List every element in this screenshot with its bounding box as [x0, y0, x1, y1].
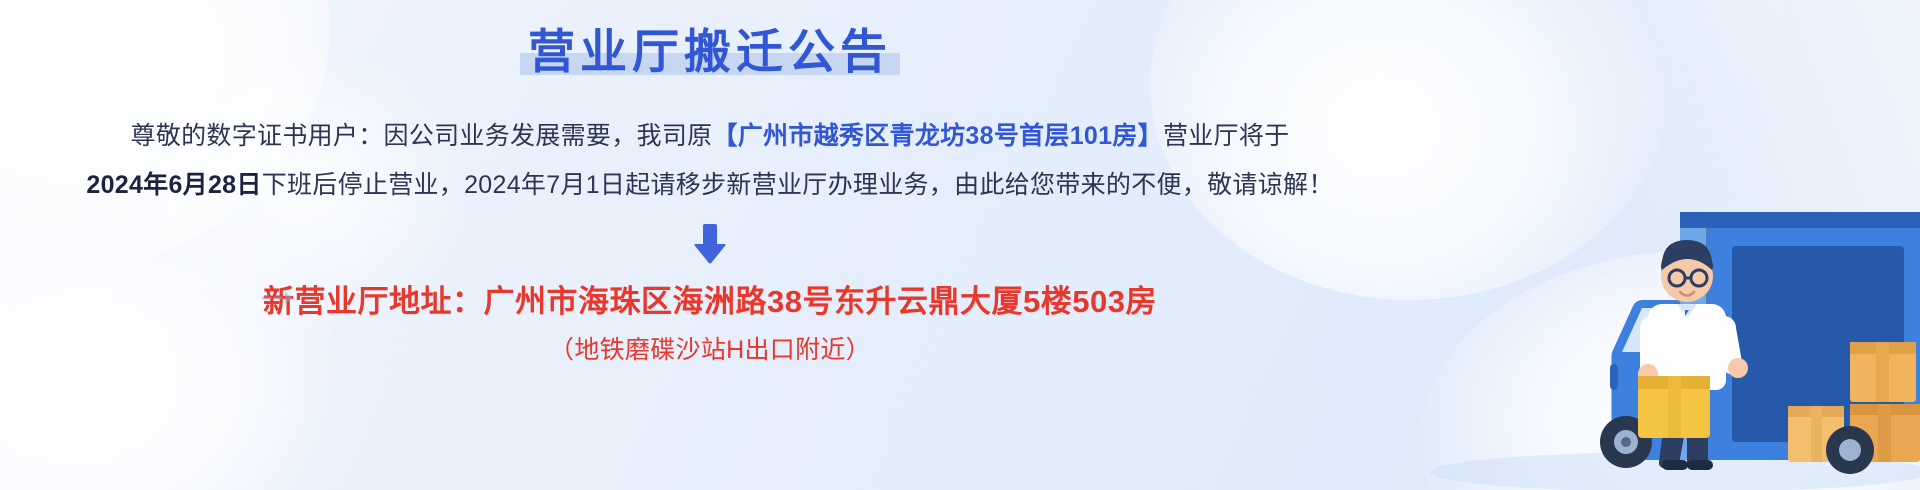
line2-rest: 下班后停止营业，2024年7月1日起请移步新营业厅办理业务，由此给您带来的不便，… [262, 171, 1334, 199]
new-address-row: 新营业厅地址：广州市海珠区海洲路38号东升云鼎大厦5楼503房 [0, 276, 1420, 321]
new-address-note: （地铁磨碟沙站H出口附近） [549, 330, 871, 366]
announcement-line-1: 尊敬的数字证书用户：因公司业务发展需要，我司原【广州市越秀区青龙坊38号首层10… [131, 113, 1290, 161]
dashed-right-arrow-icon [262, 290, 296, 306]
closing-date: 2024年6月28日 [86, 171, 261, 199]
down-arrow-icon [692, 222, 728, 266]
old-address-highlight: 【广州市越秀区青龙坊38号首层101房】 [712, 122, 1163, 150]
new-address-label: 新营业厅地址： [263, 284, 484, 319]
delivery-person [1638, 240, 1748, 470]
background-blob-bottom-right [1420, 250, 1920, 490]
new-address-value: 广州市海珠区海洲路38号东升云鼎大厦5楼503房 [484, 284, 1157, 319]
truck-rear-wheel [1826, 426, 1874, 474]
line1-part-a: 尊敬的数字证书用户：因公司业务发展需要，我司原 [131, 122, 713, 150]
background-wave-right [1400, 0, 1920, 490]
announcement-line-2: 2024年6月28日下班后停止营业，2024年7月1日起请移步新营业厅办理业务，… [86, 162, 1333, 210]
truck-body [1680, 212, 1920, 460]
page-title: 营业厅搬迁公告 [528, 26, 892, 79]
down-arrow-wrap [0, 222, 1420, 266]
truck-cab [1600, 300, 1680, 468]
announcement-content: 营业厅搬迁公告 尊敬的数字证书用户：因公司业务发展需要，我司原【广州市越秀区青龙… [0, 0, 1420, 490]
new-address-text: 新营业厅地址：广州市海珠区海洲路38号东升云鼎大厦5楼503房 [263, 276, 1157, 321]
carried-yellow-box [1638, 376, 1710, 438]
moving-truck-delivery-illustration [1380, 150, 1920, 490]
cardboard-boxes [1788, 342, 1920, 462]
line1-part-b: 营业厅将于 [1163, 122, 1290, 150]
relocation-announcement-banner: 营业厅搬迁公告 尊敬的数字证书用户：因公司业务发展需要，我司原【广州市越秀区青龙… [0, 0, 1920, 490]
title-text: 营业厅搬迁公告 [528, 26, 892, 79]
